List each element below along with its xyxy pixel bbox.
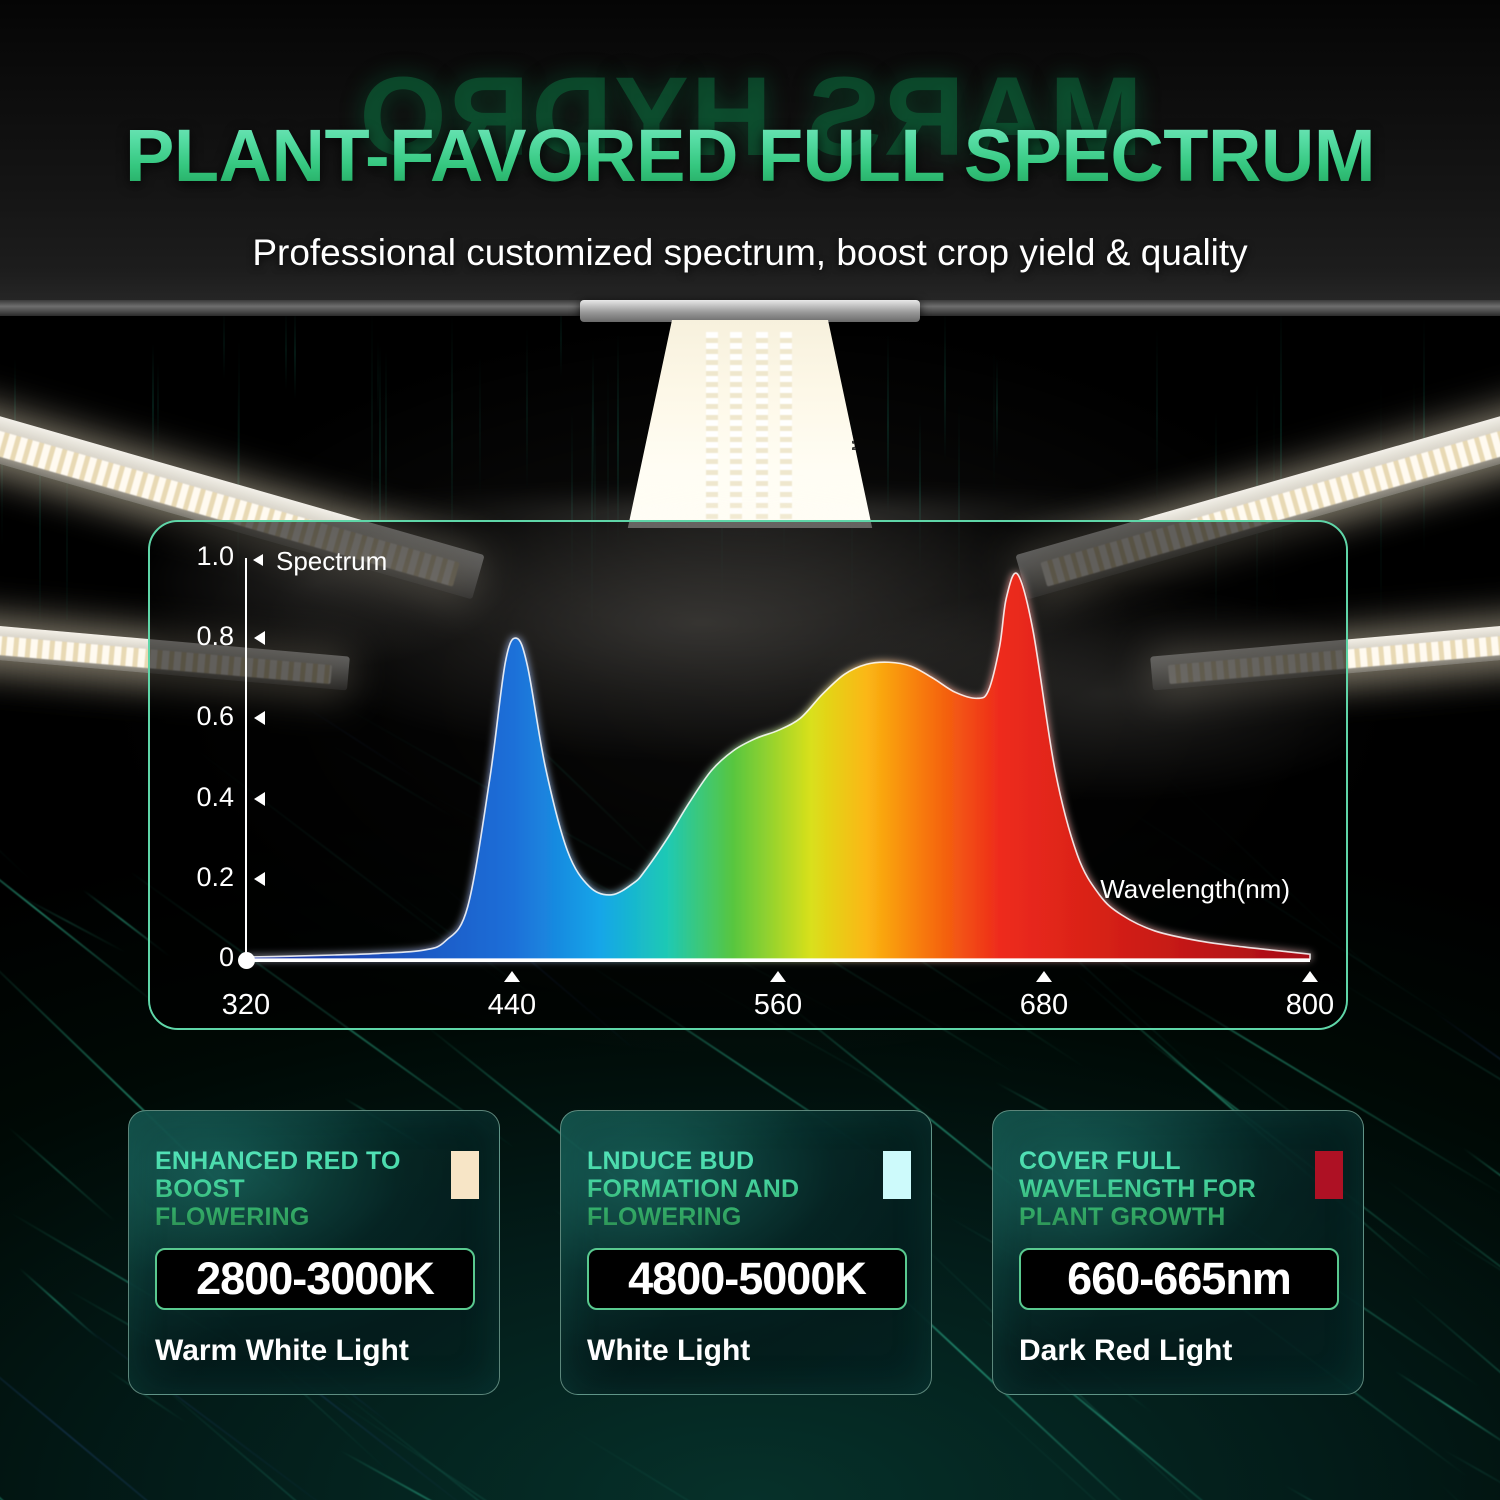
fixture-mount-bar — [580, 300, 920, 322]
y-tick-label: 0.8 — [164, 621, 234, 652]
x-tick-mark — [1302, 971, 1318, 982]
x-tick-mark — [504, 971, 520, 982]
card-footer: Dark Red Light — [1019, 1334, 1232, 1368]
card-value: 2800-3000K — [196, 1253, 434, 1305]
fixture-brand-logo: MARS HYDRO — [849, 342, 864, 451]
card-value-box: 4800-5000K — [587, 1248, 907, 1310]
promo-graphic: MARS HYDRO MARS HYDRO PLANT-FAVORED FULL… — [0, 0, 1500, 1500]
spec-cards: ENHANCED RED TO BOOST FLOWERING 2800-300… — [0, 1110, 1500, 1410]
y-tick-label: 0.6 — [164, 701, 234, 732]
x-tick-label: 800 — [1255, 989, 1348, 1022]
y-tick-label: 0.4 — [164, 782, 234, 813]
y-tick-label: 0.2 — [164, 862, 234, 893]
chart-plot-area: Spectrum Wavelength(nm) 1.00.80.60.40.20… — [150, 522, 1346, 1028]
x-tick-label: 680 — [989, 989, 1099, 1022]
y-tick-mark — [254, 792, 265, 806]
y-tick-label: 1.0 — [164, 541, 234, 572]
spectrum-curve — [150, 522, 1348, 1030]
page-subtitle: Professional customized spectrum, boost … — [0, 232, 1500, 274]
y-tick-mark — [254, 872, 265, 886]
y-axis — [245, 558, 247, 961]
x-tick-mark — [1036, 971, 1052, 982]
color-swatch — [451, 1151, 479, 1199]
card-value: 4800-5000K — [628, 1253, 866, 1305]
x-tick-label: 560 — [723, 989, 833, 1022]
y-tick-mark — [254, 631, 265, 645]
spec-card-dark-red[interactable]: COVER FULL WAVELENGTH FOR PLANT GROWTH 6… — [992, 1110, 1364, 1395]
card-heading: LNDUCE BUD FORMATION AND FLOWERING — [587, 1147, 837, 1231]
fixture-led-panel: MARS HYDRO — [620, 320, 880, 528]
spectrum-chart-panel: Spectrum Wavelength(nm) 1.00.80.60.40.20… — [148, 520, 1348, 1030]
card-value-box: 660-665nm — [1019, 1248, 1339, 1310]
axis-origin-dot — [238, 952, 255, 969]
spec-card-white[interactable]: LNDUCE BUD FORMATION AND FLOWERING 4800-… — [560, 1110, 932, 1395]
y-tick-label: 0 — [164, 942, 234, 973]
card-footer: White Light — [587, 1334, 750, 1368]
center-grow-light-fixture: MARS HYDRO — [575, 300, 925, 530]
card-footer: Warm White Light — [155, 1334, 409, 1368]
x-tick-label: 440 — [457, 989, 567, 1022]
card-value: 660-665nm — [1067, 1253, 1291, 1305]
page-title: PLANT-FAVORED FULL SPECTRUM — [0, 113, 1500, 198]
spec-card-warm-white[interactable]: ENHANCED RED TO BOOST FLOWERING 2800-300… — [128, 1110, 500, 1395]
x-tick-mark — [770, 971, 786, 982]
card-heading: COVER FULL WAVELENGTH FOR PLANT GROWTH — [1019, 1147, 1269, 1231]
color-swatch — [1315, 1151, 1343, 1199]
fixture-led-strips — [620, 320, 880, 528]
x-tick-label: 320 — [191, 989, 301, 1022]
color-swatch — [883, 1151, 911, 1199]
x-axis — [245, 959, 1310, 962]
spectrum-label-arrow-icon — [253, 554, 263, 566]
card-value-box: 2800-3000K — [155, 1248, 475, 1310]
card-heading: ENHANCED RED TO BOOST FLOWERING — [155, 1147, 405, 1231]
spectrum-axis-label: Spectrum — [276, 546, 387, 577]
header: MARS HYDRO PLANT-FAVORED FULL SPECTRUM P… — [0, 0, 1500, 300]
y-tick-mark — [254, 711, 265, 725]
wavelength-axis-label: Wavelength(nm) — [1100, 874, 1290, 905]
